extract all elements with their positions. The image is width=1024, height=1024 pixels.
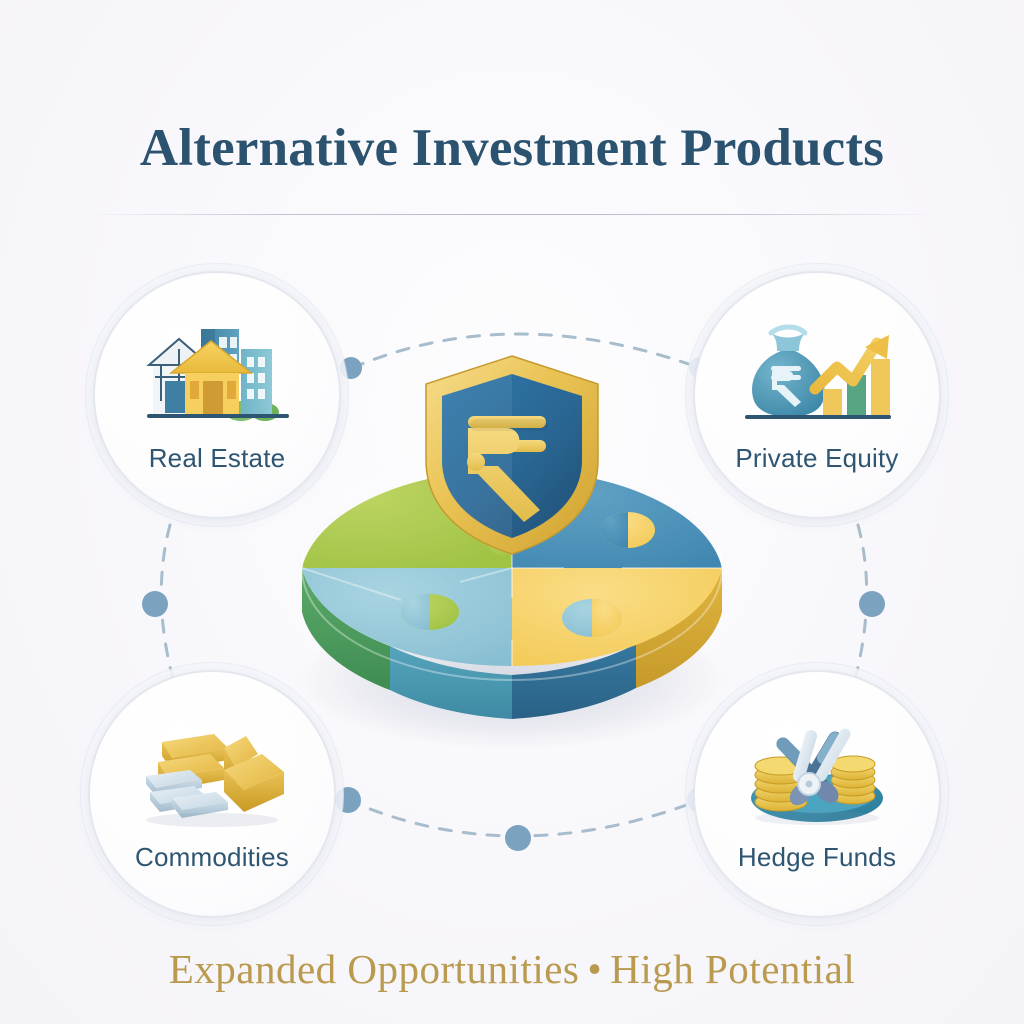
infographic-canvas: Alternative Investment Products — [0, 0, 1024, 1024]
tagline-left: Expanded Opportunities — [169, 946, 580, 992]
page-title: Alternative Investment Products — [0, 118, 1024, 178]
ground-line — [745, 415, 891, 419]
connector-dot-right-mid — [859, 591, 885, 617]
growth-arrow-line — [815, 343, 877, 389]
chart-bar-1 — [823, 389, 842, 417]
coins-and-shears-icon — [737, 704, 897, 832]
bars-shadow — [146, 813, 278, 827]
tray-shadow — [755, 811, 879, 825]
money-bag-tie — [771, 327, 805, 333]
house-and-buildings-icon — [137, 305, 297, 433]
title-divider — [82, 214, 942, 215]
connector-dot-left-mid — [142, 591, 168, 617]
connector-arc-bottom-path — [348, 800, 700, 836]
node-real-estate[interactable]: Real Estate — [93, 271, 341, 519]
house-window-small — [190, 381, 199, 399]
footer-tagline: Expanded Opportunities•High Potential — [0, 945, 1024, 993]
connector-dot-bottom-center — [505, 825, 531, 851]
rupee-symbol-shadow — [470, 419, 548, 431]
node-label-commodities: Commodities — [135, 842, 289, 873]
connector-line-left — [161, 525, 176, 690]
node-hedge-funds[interactable]: Hedge Funds — [693, 670, 941, 918]
node-label-real-estate: Real Estate — [149, 443, 286, 474]
gold-and-silver-bars-icon — [132, 704, 292, 832]
money-bag-neck — [771, 333, 805, 351]
node-label-hedge-funds: Hedge Funds — [738, 842, 896, 873]
house-door — [203, 381, 223, 415]
connector-line-right — [852, 525, 867, 690]
chart-bar-3 — [871, 359, 890, 417]
connector-dot-bottom-left — [335, 787, 361, 813]
tagline-separator: • — [579, 946, 610, 992]
money-bag-growth-chart-icon — [737, 305, 897, 433]
node-commodities[interactable]: Commodities — [88, 670, 336, 918]
node-private-equity[interactable]: Private Equity — [693, 271, 941, 519]
building-short — [241, 349, 272, 415]
house-window-small — [227, 381, 236, 399]
node-label-private-equity: Private Equity — [735, 443, 898, 474]
shears-pivot-center — [806, 781, 813, 788]
ground-line — [147, 414, 289, 418]
tagline-right: High Potential — [610, 946, 855, 992]
